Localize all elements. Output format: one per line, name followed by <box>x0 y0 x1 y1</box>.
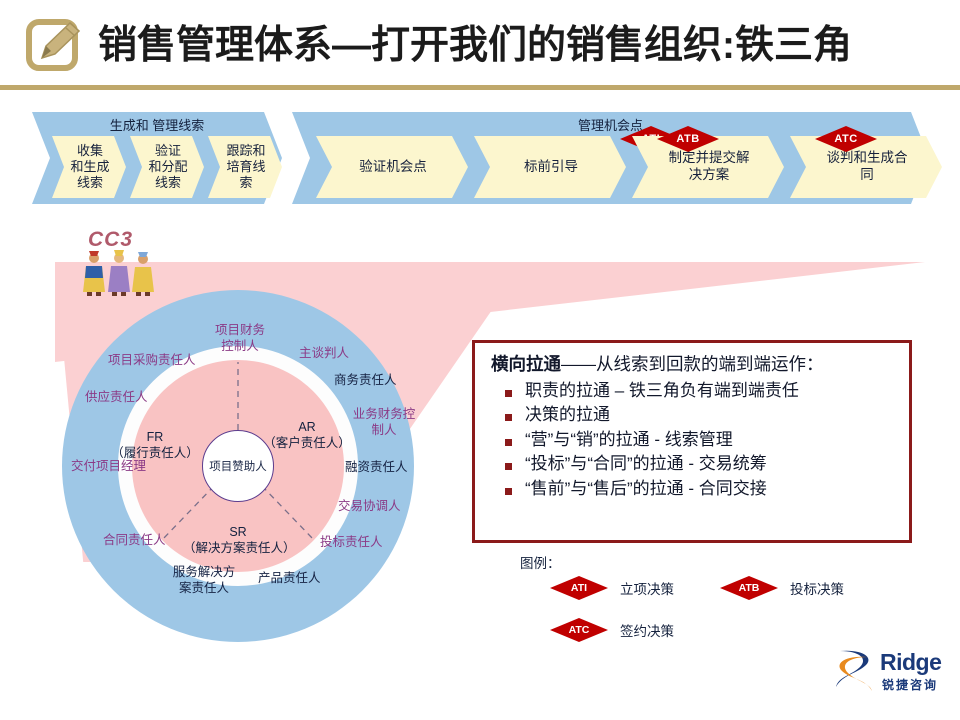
lead-management-band: 生成和 管理线索 收集 和生成 线索 验证 和分配 线索 跟踪和 培育线 索 <box>32 112 282 204</box>
outer-role-contract-owner: 合同责任人 <box>103 532 166 548</box>
badge-label: ATB <box>676 133 699 145</box>
process-step-label: 谈判和生成合 同 <box>790 136 942 198</box>
inner-role-sr: SR （解决方案责任人） <box>183 525 293 556</box>
outer-role-service-solution-owner: 服务解决方 案责任人 <box>166 564 242 597</box>
process-step-label: 跟踪和 培育线 索 <box>208 136 282 198</box>
process-step-collect-leads[interactable]: 收集 和生成 线索 <box>52 136 126 198</box>
opportunity-management-band: 管理机会点 验证机会点 ATI 标前引导 制定并提交解 决方案 ATB 谈判和生… <box>292 112 929 204</box>
process-step-label: 验证 和分配 线索 <box>130 136 204 198</box>
page-title: 销售管理体系—打开我们的销售组织:铁三角 <box>98 16 852 76</box>
pencil-edit-icon <box>26 18 84 72</box>
callout-bullet: “营”与“销”的拉通 - 线索管理 <box>491 428 895 452</box>
callout-bullet: “售前”与“售后”的拉通 - 合同交接 <box>491 477 895 501</box>
process-step-track-nurture-leads[interactable]: 跟踪和 培育线 索 <box>208 136 282 198</box>
outer-role-transaction-coordinator: 交易协调人 <box>338 498 401 514</box>
legend-item-atb: ATB 投标决策 <box>720 576 844 600</box>
outer-role-commercial-owner: 商务责任人 <box>334 372 397 388</box>
outer-role-business-finance-controller: 业务财务控 制人 <box>348 406 420 439</box>
outer-role-supply-owner: 供应责任人 <box>85 389 148 405</box>
legend-item-atc: ATC 签约决策 <box>550 618 674 642</box>
badge-label: ATI <box>571 582 587 594</box>
page-header: 销售管理体系—打开我们的销售组织:铁三角 <box>0 0 960 90</box>
callout-heading-rest: ——从线索到回款的端到端运作： <box>561 354 824 374</box>
process-step-pre-bid-guidance[interactable]: 标前引导 <box>474 136 626 198</box>
inner-role-code: AR <box>252 420 362 436</box>
inner-role-code: FR <box>100 430 210 446</box>
legend-item-ati: ATI 立项决策 <box>550 576 674 600</box>
process-step-label: 验证机会点 <box>316 136 468 198</box>
header-divider <box>0 85 960 90</box>
inner-role-fr: FR （履行责任人） <box>100 430 210 461</box>
logo-wordmark: Ridge <box>880 649 941 676</box>
callout-bullet: “投标”与“合同”的拉通 - 交易统筹 <box>491 452 895 476</box>
callout-heading-strong: 横向拉通 <box>491 354 561 374</box>
process-step-verify-opportunity[interactable]: 验证机会点 <box>316 136 468 198</box>
legend-label: 立项决策 <box>620 578 674 598</box>
legend: 图例： ATI 立项决策 ATB 投标决策 ATC 签约决策 <box>520 552 900 652</box>
outer-role-delivery-project-manager: 交付项目经理 <box>71 458 146 474</box>
process-step-verify-assign-leads[interactable]: 验证 和分配 线索 <box>130 136 204 198</box>
outer-role-project-procurement-owner: 项目采购责任人 <box>108 352 196 368</box>
legend-label: 投标决策 <box>790 578 844 598</box>
band-title-opportunity: 管理机会点 <box>292 115 929 134</box>
inner-role-name: （客户责任人） <box>252 436 362 452</box>
ridge-logo-mark-icon <box>832 647 876 693</box>
legend-badge-ati: ATI <box>550 576 608 600</box>
inner-role-code: SR <box>183 525 293 541</box>
outer-role-chief-negotiator: 主谈判人 <box>299 345 349 361</box>
callout-heading: 横向拉通——从线索到回款的端到端运作： <box>491 353 895 377</box>
callout-bullet-list: 职责的拉通 – 铁三角负有端到端责任 决策的拉通 “营”与“销”的拉通 - 线索… <box>491 379 895 501</box>
outer-role-product-owner: 产品责任人 <box>258 570 321 586</box>
band-title-lead: 生成和 管理线索 <box>32 115 282 134</box>
outer-role-project-finance-controller: 项目财务 控制人 <box>205 322 275 355</box>
iron-triangle-diagram: 项目赞助人 FR （履行责任人） AR （客户责任人） SR （解决方案责任人）… <box>62 290 414 642</box>
legend-label: 签约决策 <box>620 620 674 640</box>
badge-label: ATB <box>739 582 760 594</box>
badge-label: ATC <box>834 133 857 145</box>
callout-bullet: 决策的拉通 <box>491 403 895 427</box>
process-step-label: 制定并提交解 决方案 <box>632 136 784 198</box>
process-step-label: 收集 和生成 线索 <box>52 136 126 198</box>
legend-badge-atc: ATC <box>550 618 608 642</box>
legend-badge-atb: ATB <box>720 576 778 600</box>
core-label: 项目赞助人 <box>209 458 267 474</box>
badge-label: ATC <box>569 624 590 636</box>
company-logo: Ridge 锐捷咨询 <box>832 645 950 703</box>
three-people-icon <box>80 248 158 296</box>
process-step-submit-solution[interactable]: 制定并提交解 决方案 <box>632 136 784 198</box>
outer-role-bid-owner: 投标责任人 <box>320 534 383 550</box>
inner-role-ar: AR （客户责任人） <box>252 420 362 451</box>
callout-bullet: 职责的拉通 – 铁三角负有端到端责任 <box>491 379 895 403</box>
outer-role-financing-owner: 融资责任人 <box>345 459 408 475</box>
logo-subtitle: 锐捷咨询 <box>882 676 938 693</box>
process-step-label: 标前引导 <box>474 136 626 198</box>
horizontal-alignment-callout: 横向拉通——从线索到回款的端到端运作： 职责的拉通 – 铁三角负有端到端责任 决… <box>472 340 912 543</box>
inner-role-name: （解决方案责任人） <box>183 541 293 557</box>
legend-title: 图例： <box>520 552 561 572</box>
process-step-negotiate-contract[interactable]: 谈判和生成合 同 <box>790 136 942 198</box>
